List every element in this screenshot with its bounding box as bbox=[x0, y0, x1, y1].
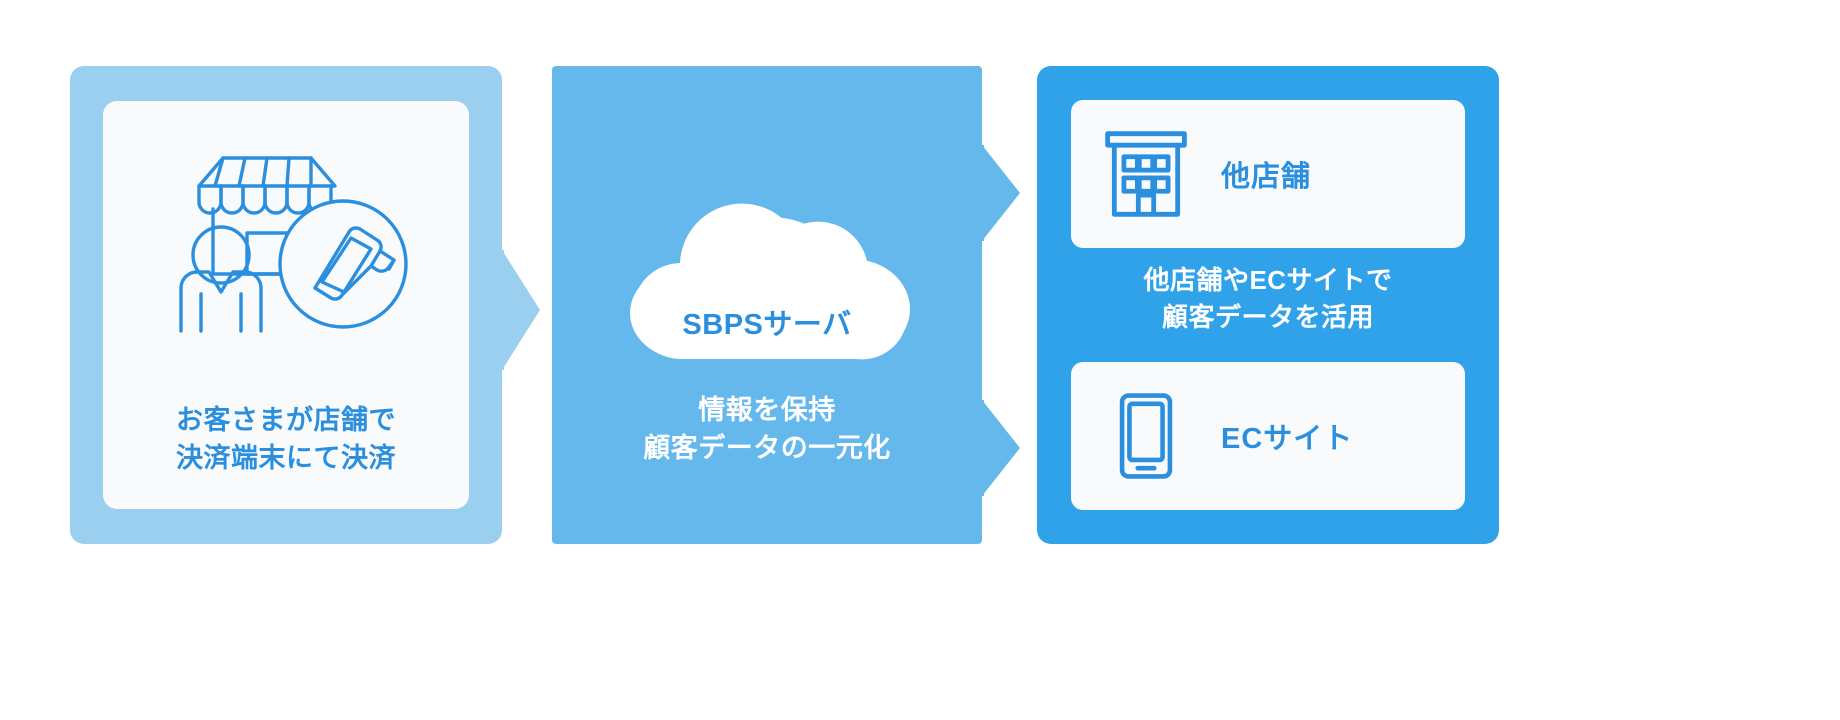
step2-caption-line1: 情報を保持 bbox=[552, 391, 982, 429]
arrow-step2-to-ec-head bbox=[982, 400, 1020, 496]
step2-caption: 情報を保持 顧客データの一元化 bbox=[552, 391, 982, 468]
building-icon bbox=[1071, 126, 1221, 222]
arrow-step2-to-store-head bbox=[982, 145, 1020, 241]
cloud-icon: SBPSサーバ bbox=[602, 191, 932, 361]
step1-caption-line1: お客さまが店舗で bbox=[103, 401, 469, 439]
step1-caption-line2: 決済端末にて決済 bbox=[103, 439, 469, 477]
step3-card-ec-site: ECサイト bbox=[1071, 362, 1465, 510]
step3-middle-line1: 他店舗やECサイトで bbox=[1037, 262, 1499, 299]
diagram-canvas: お客さまが店舗で 決済端末にて決済 SBPSサーバ 情報を保持 顧客データの一元… bbox=[0, 0, 1840, 720]
step3-middle-caption: 他店舗やECサイトで 顧客データを活用 bbox=[1037, 262, 1499, 336]
step3-card-other-store: 他店舗 bbox=[1071, 100, 1465, 248]
cloud-label: SBPSサーバ bbox=[602, 301, 932, 343]
storefront-with-payment-terminal-icon bbox=[163, 146, 413, 386]
step3-panel: 他店舗 他店舗やECサイトで 顧客データを活用 ECサイト bbox=[1037, 66, 1499, 544]
arrow-step1-to-step2-head bbox=[502, 250, 540, 370]
step2-panel: SBPSサーバ 情報を保持 顧客データの一元化 bbox=[552, 66, 982, 544]
step3-middle-line2: 顧客データを活用 bbox=[1037, 299, 1499, 336]
step1-caption: お客さまが店舗で 決済端末にて決済 bbox=[103, 401, 469, 478]
step2-caption-line2: 顧客データの一元化 bbox=[552, 429, 982, 467]
step3-card-label-other-store: 他店舗 bbox=[1221, 153, 1311, 195]
step1-card: お客さまが店舗で 決済端末にて決済 bbox=[103, 101, 469, 509]
step1-panel: お客さまが店舗で 決済端末にて決済 bbox=[70, 66, 502, 544]
step3-card-label-ec-site: ECサイト bbox=[1221, 415, 1353, 457]
tablet-icon bbox=[1071, 390, 1221, 482]
